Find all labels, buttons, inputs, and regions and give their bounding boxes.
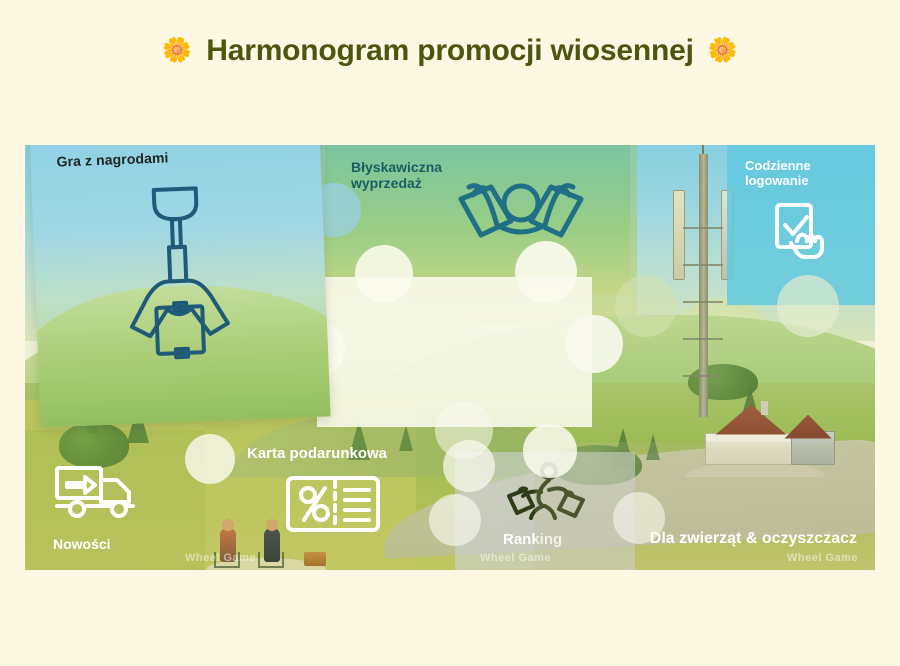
- percent-voucher-icon: [285, 473, 381, 535]
- piece-tint: [535, 442, 875, 570]
- house-roof: [699, 405, 803, 435]
- piece-label-pets-purifier: Dla zwierząt & oczyszczacz: [650, 530, 857, 548]
- tower-rung: [683, 375, 723, 377]
- house-chimney: [761, 401, 768, 415]
- puzzle-knob: [515, 241, 577, 303]
- tower-rung: [683, 227, 723, 229]
- page-title: Harmonogram promocji wiosennej: [206, 34, 693, 68]
- claw-machine-icon: [110, 181, 247, 366]
- puzzle-piece-new-arrivals[interactable]: Nowości: [25, 430, 205, 570]
- flower-icon-left: 🌼: [162, 39, 192, 63]
- flower-icon-right: 🌼: [708, 39, 738, 63]
- puzzle-knob: [185, 434, 235, 484]
- tower-mast: [699, 154, 708, 418]
- piece-label-daily-login: Codzienne logowanie: [745, 159, 811, 189]
- puzzle-knob: [443, 440, 495, 492]
- tower-rung: [683, 301, 723, 303]
- watermark: Wheel Game: [185, 552, 256, 564]
- tower-rung: [683, 264, 723, 266]
- puzzle-knob: [565, 315, 623, 373]
- puzzle-board[interactable]: Błyskawiczna wyprzedaż Codzienne logowan…: [25, 145, 875, 570]
- watermark: Wheel Game: [480, 552, 551, 564]
- watermark: Wheel Game: [787, 552, 858, 564]
- puzzle-piece-prize-game[interactable]: Gra z nagrodami: [29, 145, 330, 427]
- delivery-truck-icon: [53, 462, 153, 524]
- puzzle-knob: [613, 492, 665, 544]
- puzzle-piece-pets-purifier[interactable]: Dla zwierząt & oczyszczacz: [535, 442, 875, 570]
- cell-tower: [671, 154, 735, 418]
- puzzle-knob: [615, 275, 677, 337]
- piece-label-new-arrivals: Nowości: [53, 536, 111, 552]
- tower-antenna-panel: [673, 190, 685, 280]
- puzzle-knob: [523, 424, 577, 478]
- page-title-row: 🌼 Harmonogram promocji wiosennej 🌼: [0, 34, 900, 68]
- puzzle-piece-gift-card[interactable]: Karta podarunkowa: [205, 425, 470, 570]
- piece-label-gift-card: Karta podarunkowa: [247, 445, 387, 462]
- check-tap-icon: [771, 201, 827, 263]
- puzzle-knob: [777, 275, 839, 337]
- tower-rung: [683, 338, 723, 340]
- puzzle-knob: [429, 494, 481, 546]
- puzzle-knob: [355, 245, 413, 303]
- piece-label-flash-sale: Błyskawiczna wyprzedaż: [351, 159, 442, 191]
